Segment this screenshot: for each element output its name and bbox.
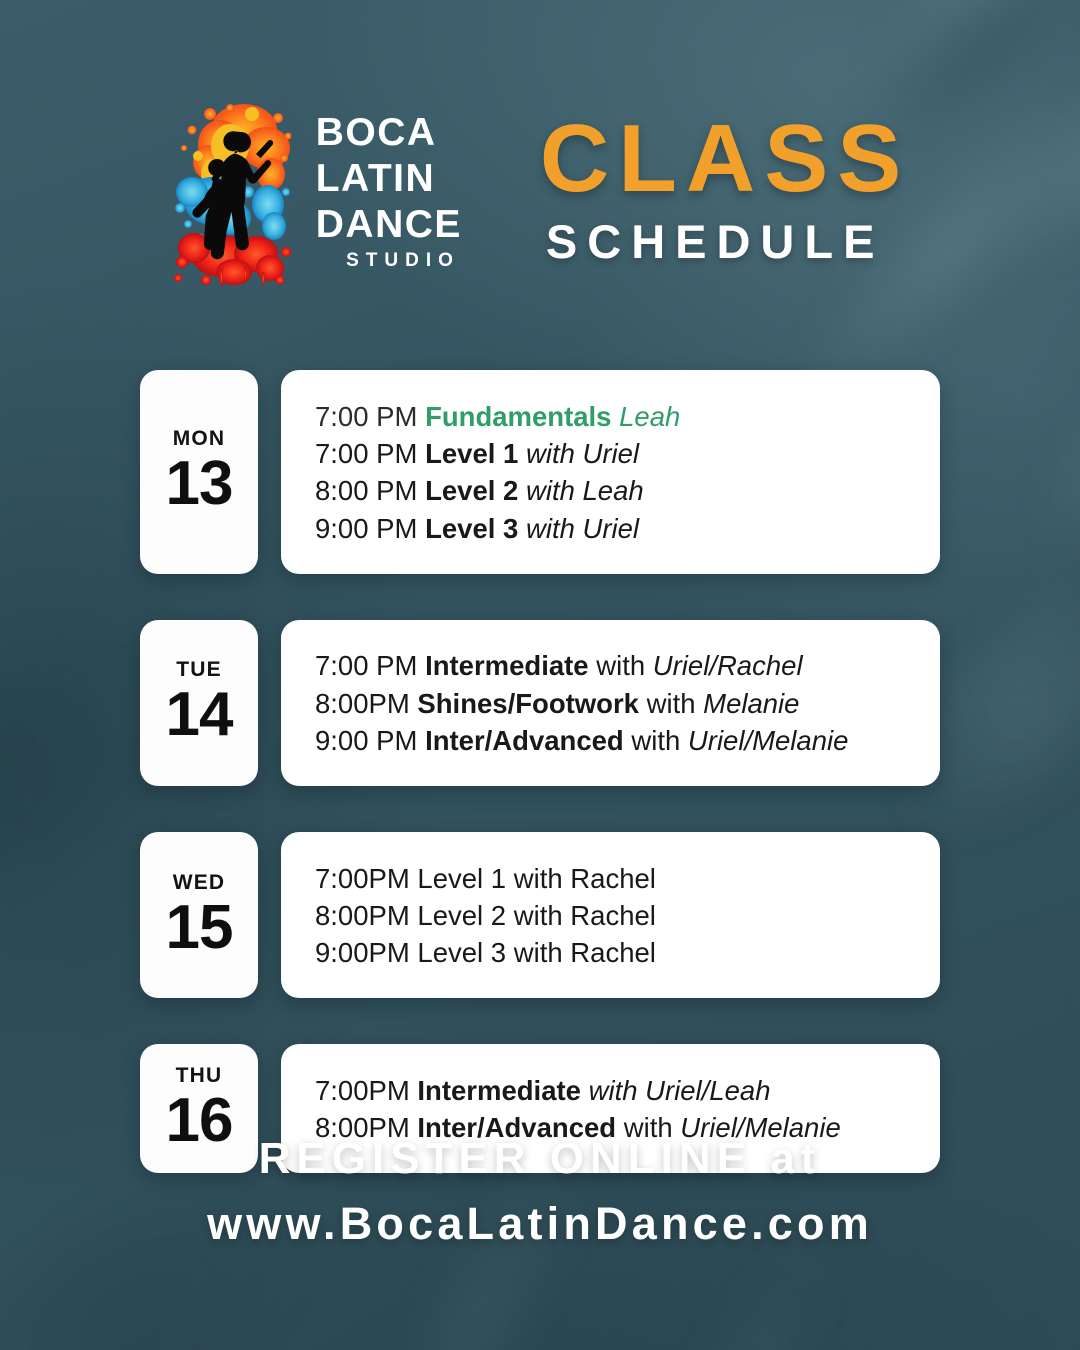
class-teacher: Rachel [570,863,656,894]
class-time: 7:00 PM [315,438,417,469]
class-time: 8:00 PM [315,475,417,506]
page-title: CLASS [540,113,910,204]
poster-title-block: CLASS SCHEDULE [540,113,910,269]
day-abbr: TUE [176,659,222,680]
class-entry[interactable]: 7:00 PM Fundamentals Leah [315,398,906,435]
class-with: with [526,475,575,506]
class-with: with [631,725,680,756]
class-name: Level 3 [417,937,506,968]
class-entry[interactable]: 7:00 PM Intermediate with Uriel/Rachel [315,648,906,685]
class-entry[interactable]: 7:00PM Level 1 with Rachel [315,860,906,897]
schedule-row-wednesday: WED 15 7:00PM Level 1 with Rachel 8:00PM… [140,832,940,998]
class-name: Level 2 [425,475,518,506]
class-name: Level 3 [425,513,518,544]
class-time: 8:00PM [315,688,410,719]
class-teacher: Leah [619,401,680,432]
brand-wordmark: BOCA LATIN DANCE STUDIO [316,113,462,270]
class-teacher: Uriel/Leah [645,1075,770,1106]
class-teacher: Rachel [570,937,656,968]
class-time: 9:00 PM [315,725,417,756]
class-entry[interactable]: 8:00 PM Level 2 with Leah [315,473,906,510]
dancing-couple-splatter-logo-icon [170,96,302,286]
day-number: 15 [166,897,233,959]
class-with: with [514,937,563,968]
class-entry[interactable]: 7:00PM Intermediate with Uriel/Leah [315,1072,906,1109]
page-subtitle: SCHEDULE [540,214,910,269]
class-name: Intermediate [425,650,589,681]
brand-line-3: DANCE [316,205,462,244]
website-url[interactable]: www.BocaLatinDance.com [0,1198,1080,1250]
day-abbr: WED [173,872,226,893]
class-teacher: Uriel/Rachel [653,650,803,681]
class-entry[interactable]: 9:00 PM Inter/Advanced with Uriel/Melani… [315,723,906,760]
class-teacher: Uriel [583,438,640,469]
day-abbr: THU [176,1065,223,1086]
brand-line-2: LATIN [316,159,462,198]
schedule-row-monday: MON 13 7:00 PM Fundamentals Leah 7:00 PM… [140,370,940,574]
day-abbr: MON [173,428,226,449]
day-card-wednesday: 7:00PM Level 1 with Rachel 8:00PM Level … [281,832,940,998]
class-with: with [526,513,575,544]
class-time: 9:00 PM [315,513,417,544]
class-with: with [647,688,696,719]
class-time: 7:00 PM [315,401,417,432]
class-time: 7:00PM [315,1075,410,1106]
class-with: with [596,650,645,681]
register-headline: REGISTER ONLINE at [0,1134,1080,1184]
class-entry[interactable]: 9:00PM Level 3 with Rachel [315,935,906,972]
class-with: with [514,863,563,894]
class-name: Level 2 [417,900,506,931]
class-entry[interactable]: 9:00 PM Level 3 with Uriel [315,510,906,547]
day-card-tuesday: 7:00 PM Intermediate with Uriel/Rachel 8… [281,620,940,786]
class-name: Intermediate [417,1075,581,1106]
class-entry[interactable]: 7:00 PM Level 1 with Uriel [315,435,906,472]
class-name: Shines/Footwork [417,688,639,719]
brand-subtitle: STUDIO [316,251,462,270]
class-time: 7:00 PM [315,650,417,681]
brand-line-1: BOCA [316,113,462,152]
class-teacher: Leah [583,475,644,506]
class-entry[interactable]: 8:00PM Level 2 with Rachel [315,898,906,935]
class-teacher: Melanie [703,688,799,719]
poster: BOCA LATIN DANCE STUDIO CLASS SCHEDULE M… [0,0,1080,1350]
day-badge-tuesday[interactable]: TUE 14 [140,620,258,786]
class-name: Level 1 [425,438,518,469]
day-number: 13 [166,453,233,515]
class-name: Fundamentals [425,401,611,432]
brand-lockup: BOCA LATIN DANCE STUDIO [170,96,462,286]
class-name: Level 1 [417,863,506,894]
class-time: 8:00PM [315,900,410,931]
day-badge-wednesday[interactable]: WED 15 [140,832,258,998]
header: BOCA LATIN DANCE STUDIO CLASS SCHEDULE [0,96,1080,286]
class-name: Inter/Advanced [425,725,624,756]
class-teacher: Rachel [570,900,656,931]
class-teacher: Uriel/Melanie [688,725,848,756]
footer-register-cta: REGISTER ONLINE at www.BocaLatinDance.co… [0,1134,1080,1250]
class-with: with [526,438,575,469]
class-entry[interactable]: 8:00PM Shines/Footwork with Melanie [315,685,906,722]
class-with: with [589,1075,638,1106]
class-time: 9:00PM [315,937,410,968]
schedule-row-tuesday: TUE 14 7:00 PM Intermediate with Uriel/R… [140,620,940,786]
day-number: 14 [166,684,233,746]
class-teacher: Uriel [583,513,640,544]
class-with: with [514,900,563,931]
day-badge-monday[interactable]: MON 13 [140,370,258,574]
schedule-list: MON 13 7:00 PM Fundamentals Leah 7:00 PM… [140,370,940,1219]
class-time: 7:00PM [315,863,410,894]
day-card-monday: 7:00 PM Fundamentals Leah 7:00 PM Level … [281,370,940,574]
